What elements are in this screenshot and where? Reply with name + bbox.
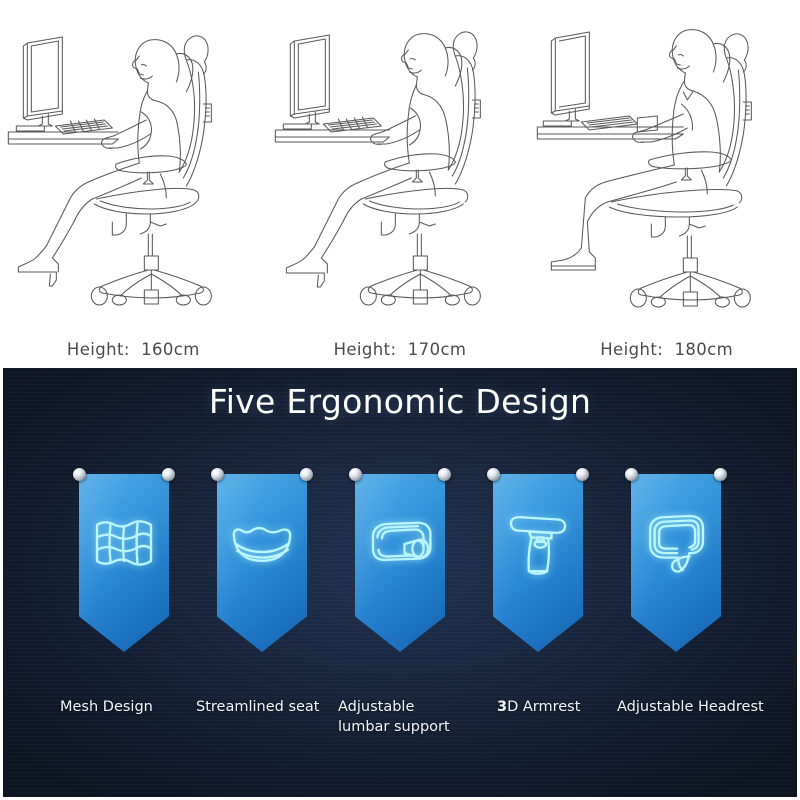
pin-ball-right	[300, 468, 313, 481]
caption-text: D Armrest	[507, 699, 580, 715]
banner-mesh-design[interactable]	[79, 468, 169, 658]
height-cell-1: Height: 160cm	[0, 333, 267, 365]
banner-streamlined-seat[interactable]	[217, 468, 307, 658]
height-label-180: Height: 180cm	[600, 340, 733, 359]
page-title: Five Ergonomic Design	[0, 382, 800, 421]
height-label-170: Height: 170cm	[334, 340, 467, 359]
seat-cushion-icon	[217, 498, 307, 588]
banner-row	[0, 468, 800, 668]
banner-3d-armrest[interactable]	[493, 468, 583, 658]
banner-adjustable-headrest[interactable]	[631, 468, 721, 658]
height-cell-3: Height: 180cm	[533, 333, 800, 365]
banner-lumbar-support[interactable]	[355, 468, 445, 658]
pin-ball-right	[438, 468, 451, 481]
pin-ball-left	[625, 468, 638, 481]
figure-seated-woman-170	[267, 8, 534, 308]
caption-mesh-design: Mesh Design	[60, 698, 153, 718]
pin-ball-left	[349, 468, 362, 481]
mesh-grid-icon	[79, 498, 169, 588]
caption-lumbar-support: Adjustable lumbar support	[338, 698, 450, 737]
figure-seated-man-180	[533, 8, 800, 308]
pin-ball-right	[714, 468, 727, 481]
caption-row: Mesh Design Streamlined seat Adjustable …	[0, 698, 800, 778]
page-root: Height: 160cm Height: 170cm Height: 180c…	[0, 0, 800, 800]
pin-ball-right	[162, 468, 175, 481]
lumbar-roller-icon	[355, 498, 445, 588]
posture-illustration-section: Height: 160cm Height: 170cm Height: 180c…	[0, 0, 800, 368]
pin-ball-left	[487, 468, 500, 481]
armrest-tshape-icon	[493, 498, 583, 588]
caption-adjustable-headrest: Adjustable Headrest	[617, 698, 764, 718]
caption-bold-prefix: 3	[497, 699, 507, 715]
figure-seated-woman-160	[0, 8, 267, 308]
pin-ball-left	[211, 468, 224, 481]
pin-ball-right	[576, 468, 589, 481]
height-cell-2: Height: 170cm	[267, 333, 534, 365]
caption-3d-armrest: 3D Armrest	[497, 698, 580, 718]
pin-ball-left	[73, 468, 86, 481]
height-label-row: Height: 160cm Height: 170cm Height: 180c…	[0, 333, 800, 365]
caption-streamlined-seat: Streamlined seat	[196, 698, 320, 718]
height-label-160: Height: 160cm	[67, 340, 200, 359]
ergonomic-features-panel: Five Ergonomic Design	[0, 368, 800, 800]
figure-row	[0, 8, 800, 308]
headrest-hook-icon	[631, 498, 721, 588]
